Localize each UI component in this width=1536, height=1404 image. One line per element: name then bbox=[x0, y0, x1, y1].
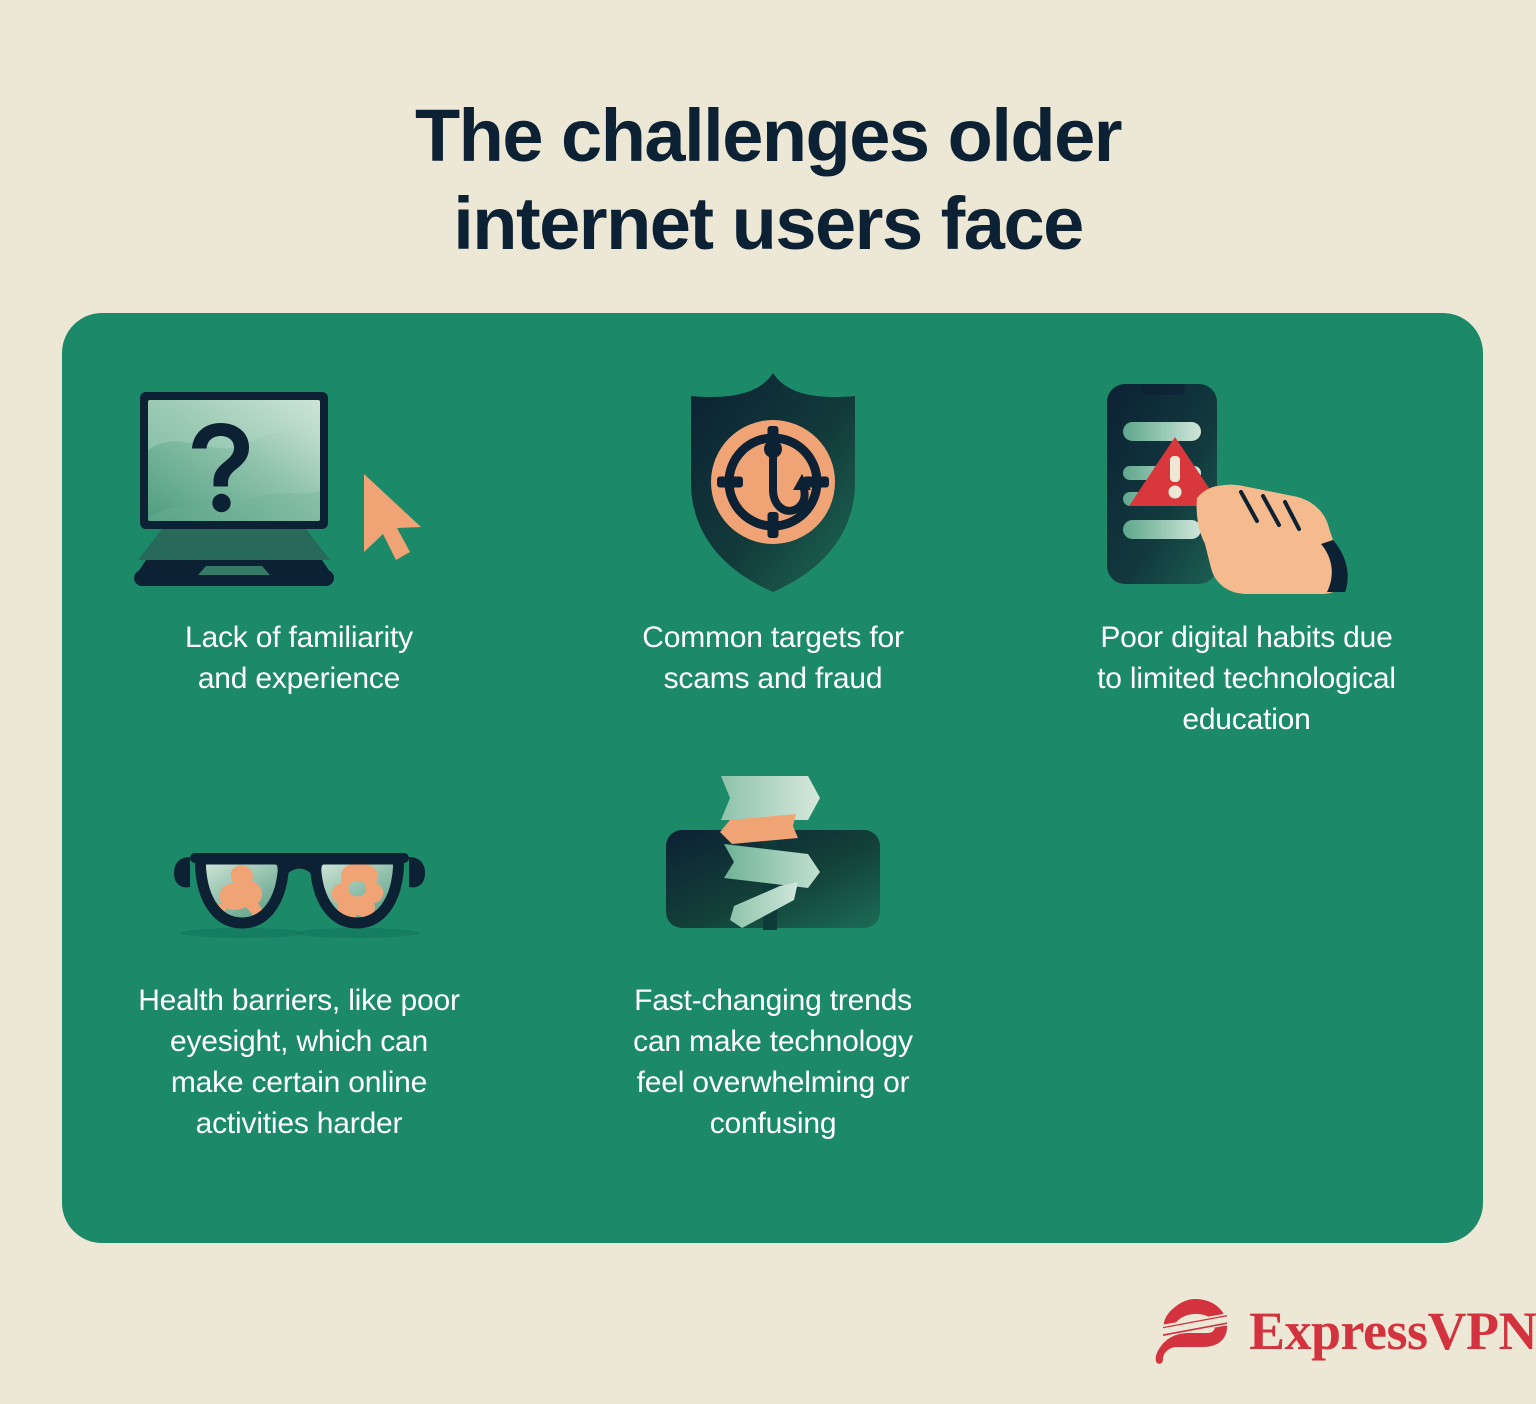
laptop-question-mark-icon bbox=[134, 385, 464, 595]
row-bottom-spacer bbox=[1010, 773, 1483, 1144]
challenge-item-3: Poor digital habits due to limited techn… bbox=[1010, 385, 1483, 740]
challenges-card: Lack of familiarity and experience bbox=[62, 313, 1483, 1243]
challenges-row-bottom: Health barriers, like poor eyesight, whi… bbox=[62, 773, 1483, 1144]
challenge-caption-5: Fast-changing trends can make technology… bbox=[633, 980, 913, 1144]
eyeglasses-blurry-vision-icon bbox=[162, 773, 437, 958]
phone-warning-hand-tap-icon bbox=[1097, 385, 1397, 595]
expressvpn-mark-icon bbox=[1155, 1295, 1233, 1367]
expressvpn-logo[interactable]: ExpressVPN bbox=[1155, 1295, 1536, 1367]
challenge-item-1: Lack of familiarity and experience bbox=[62, 385, 536, 740]
challenges-row-top: Lack of familiarity and experience bbox=[62, 385, 1483, 740]
shield-phishing-hook-icon bbox=[673, 385, 873, 595]
infographic-page: The challenges older internet users face bbox=[0, 0, 1536, 1404]
challenge-caption-4: Health barriers, like poor eyesight, whi… bbox=[138, 980, 460, 1144]
challenge-item-2: Common targets for scams and fraud bbox=[536, 385, 1010, 740]
signpost-tablet-directions-icon bbox=[658, 773, 888, 958]
page-title-line-1: The challenges older bbox=[0, 92, 1536, 180]
challenge-caption-2: Common targets for scams and fraud bbox=[642, 617, 904, 699]
challenge-item-4: Health barriers, like poor eyesight, whi… bbox=[62, 773, 536, 1144]
expressvpn-brand-text: ExpressVPN bbox=[1249, 1300, 1536, 1362]
page-title-line-2: internet users face bbox=[0, 180, 1536, 268]
challenge-caption-1: Lack of familiarity and experience bbox=[185, 617, 413, 699]
challenge-caption-3: Poor digital habits due to limited techn… bbox=[1097, 617, 1396, 740]
challenge-item-5: Fast-changing trends can make technology… bbox=[536, 773, 1010, 1144]
page-title: The challenges older internet users face bbox=[0, 92, 1536, 268]
